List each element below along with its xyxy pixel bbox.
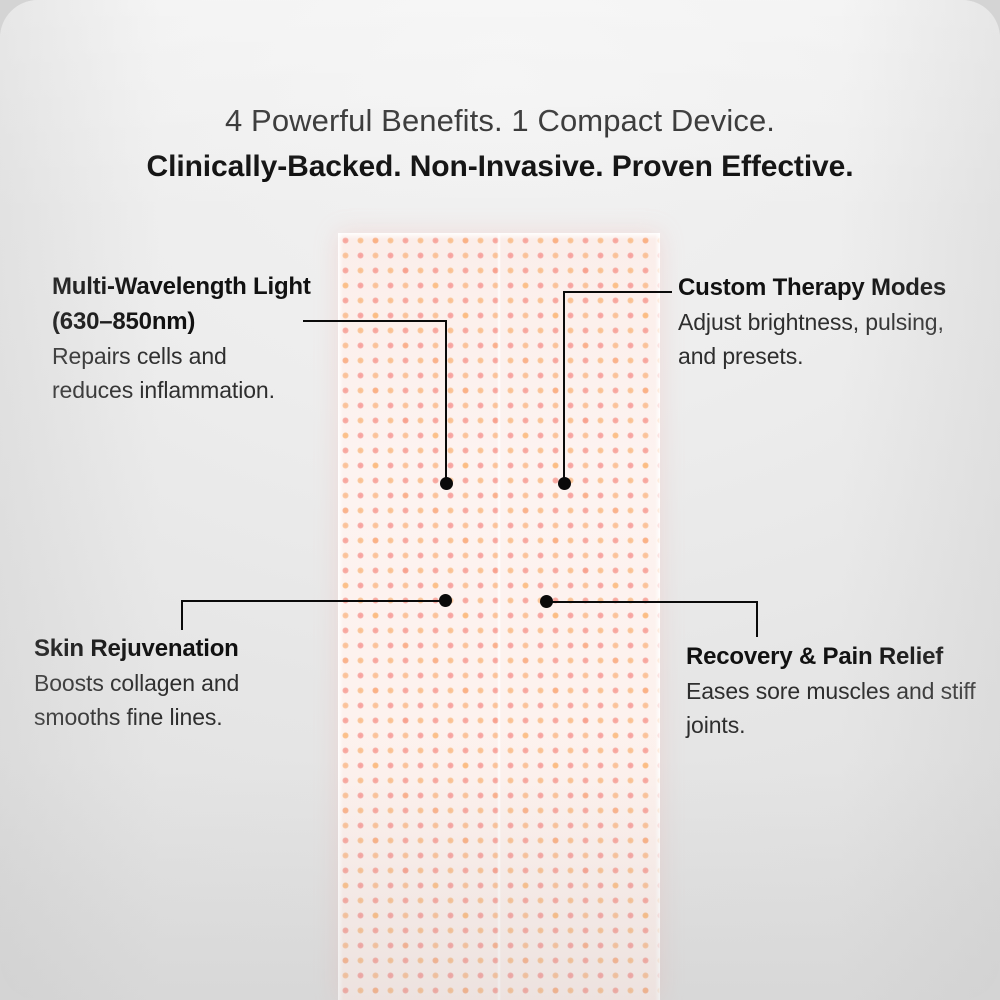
callout-title-skin-rejuvenation: Skin Rejuvenation: [34, 631, 324, 666]
leader-dot-custom-therapy: [558, 477, 571, 490]
headline-line-1: 4 Powerful Benefits. 1 Compact Device.: [0, 98, 1000, 144]
infographic-card: 4 Powerful Benefits. 1 Compact Device. C…: [0, 0, 1000, 1000]
leader-dot-skin-rejuvenation: [439, 594, 452, 607]
callout-skin-rejuvenation: Skin Rejuvenation Boosts collagen and sm…: [34, 631, 324, 734]
callout-body-custom-therapy-modes: Adjust brightness, pulsing, and presets.: [678, 305, 956, 373]
callout-body-skin-rejuvenation: Boosts collagen and smooths fine lines.: [34, 666, 324, 734]
callout-title-recovery-pain-relief: Recovery & Pain Relief: [686, 639, 986, 674]
callout-custom-therapy-modes: Custom Therapy Modes Adjust brightness, …: [678, 270, 956, 373]
leader-line-recovery-horizontal: [546, 601, 758, 603]
leader-line-skin-rejuvenation-horizontal: [181, 600, 446, 602]
led-light-therapy-panel: [338, 233, 660, 1000]
headline-block: 4 Powerful Benefits. 1 Compact Device. C…: [0, 98, 1000, 190]
leader-line-custom-therapy-vertical: [563, 291, 565, 483]
leader-dot-recovery: [540, 595, 553, 608]
leader-dot-multi-wavelength: [440, 477, 453, 490]
panel-module-seam: [497, 233, 501, 1000]
headline-line-2: Clinically-Backed. Non-Invasive. Proven …: [0, 144, 1000, 190]
callout-body-recovery-pain-relief: Eases sore muscles and stiff joints.: [686, 674, 986, 742]
leader-line-skin-rejuvenation-vertical: [181, 600, 183, 630]
callout-title-custom-therapy-modes: Custom Therapy Modes: [678, 270, 956, 305]
callout-recovery-pain-relief: Recovery & Pain Relief Eases sore muscle…: [686, 639, 986, 742]
leader-line-recovery-vertical: [756, 601, 758, 637]
callout-title-multi-wavelength-light: Multi-Wavelength Light (630–850nm): [52, 269, 312, 339]
leader-line-custom-therapy-horizontal: [563, 291, 672, 293]
callout-body-multi-wavelength-light: Repairs cells and reduces inflammation.: [52, 339, 312, 407]
leader-line-multi-wavelength-vertical: [445, 320, 447, 483]
leader-line-multi-wavelength-horizontal: [303, 320, 447, 322]
callout-multi-wavelength-light: Multi-Wavelength Light (630–850nm) Repai…: [52, 269, 312, 407]
